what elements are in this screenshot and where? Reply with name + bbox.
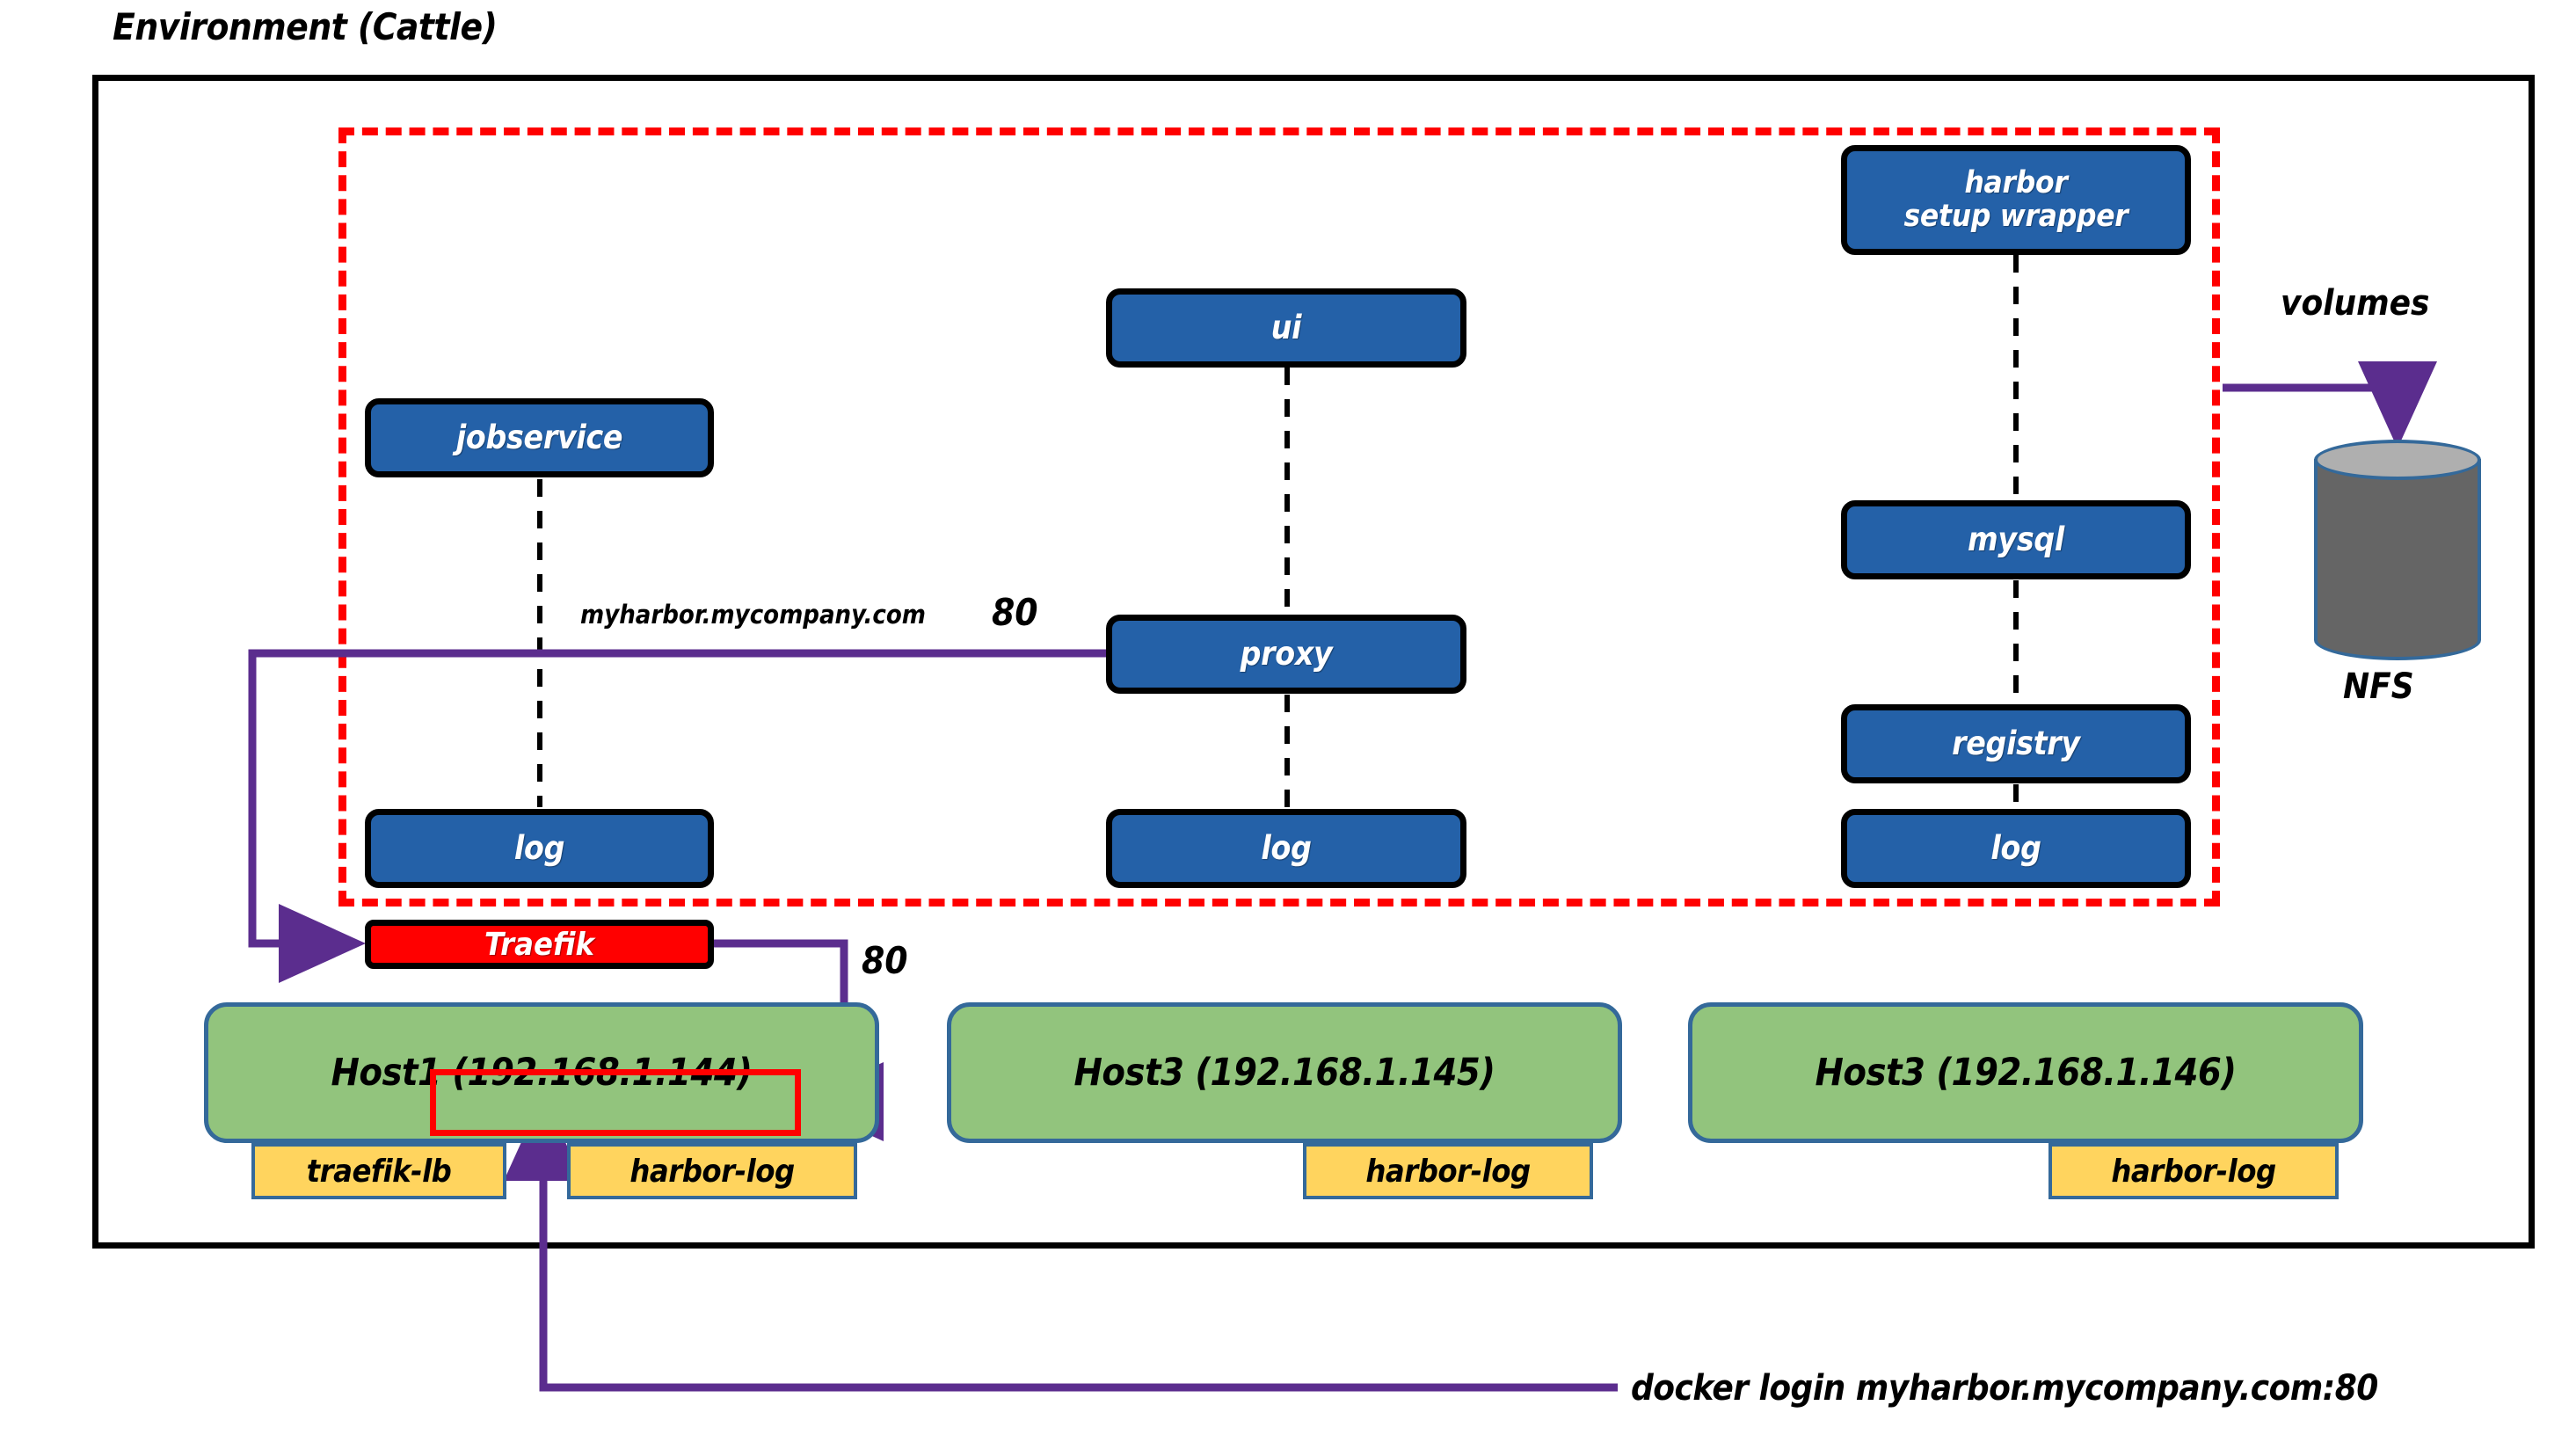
host-box-2[interactable]: Host3 (192.168.1.145) <box>947 1002 1622 1143</box>
nfs-cylinder-body <box>2314 459 2481 640</box>
nfs-label: NFS <box>2343 666 2414 707</box>
tag-label: harbor-log <box>2111 1154 2275 1190</box>
service-label: proxy <box>1241 637 1333 671</box>
domain-annotation: myharbor.mycompany.com <box>580 600 926 630</box>
tag-label: traefik-lb <box>307 1154 452 1190</box>
service-label: log <box>1990 831 2041 865</box>
service-label-line2: setup wrapper <box>1903 200 2128 233</box>
service-box-mysql[interactable]: mysql <box>1841 500 2191 579</box>
service-box-jobservice[interactable]: jobservice <box>365 398 714 477</box>
tag-label: harbor-log <box>629 1154 794 1190</box>
service-label: registry <box>1952 726 2080 761</box>
host-box-3[interactable]: Host3 (192.168.1.146) <box>1688 1002 2363 1143</box>
environment-title: Environment (Cattle) <box>113 5 497 48</box>
service-box-harbor-setup-wrapper[interactable]: harbor setup wrapper <box>1841 145 2191 255</box>
service-label: log <box>514 831 564 865</box>
service-label: mysql <box>1968 522 2064 557</box>
service-label: ui <box>1271 310 1302 345</box>
tag-traefik-lb[interactable]: traefik-lb <box>251 1143 506 1199</box>
volumes-annotation: volumes <box>2281 283 2429 324</box>
tag-harbor-log-host2[interactable]: harbor-log <box>1303 1143 1593 1199</box>
diagram-canvas: Environment (Cattle) <box>0 0 2576 1449</box>
service-label: log <box>1261 831 1311 865</box>
service-box-log-jobservice[interactable]: log <box>365 809 714 888</box>
port-label-proxy: 80 <box>992 591 1038 634</box>
host-label: Host3 (192.168.1.146) <box>1816 1051 2237 1095</box>
service-box-proxy[interactable]: proxy <box>1106 615 1466 694</box>
nfs-cylinder-top <box>2314 440 2481 480</box>
tag-harbor-log-host1[interactable]: harbor-log <box>567 1143 857 1199</box>
port-label-traefik: 80 <box>862 939 908 982</box>
traefik-label: Traefik <box>484 927 594 963</box>
docker-login-annotation: docker login myharbor.mycompany.com:80 <box>1631 1368 2378 1409</box>
traefik-load-balancer[interactable]: Traefik <box>365 920 714 969</box>
nfs-storage-icon <box>2314 440 2481 659</box>
tag-label: harbor-log <box>1365 1154 1530 1190</box>
service-label-line1: harbor <box>1964 167 2067 200</box>
host-label: Host3 (192.168.1.145) <box>1074 1051 1495 1095</box>
service-label: jobservice <box>456 420 622 455</box>
service-box-registry[interactable]: registry <box>1841 704 2191 783</box>
service-box-ui[interactable]: ui <box>1106 288 1466 368</box>
service-box-log-registry[interactable]: log <box>1841 809 2191 888</box>
tag-harbor-log-host3[interactable]: harbor-log <box>2048 1143 2339 1199</box>
service-box-log-ui[interactable]: log <box>1106 809 1466 888</box>
host1-ip-highlight <box>430 1069 801 1136</box>
